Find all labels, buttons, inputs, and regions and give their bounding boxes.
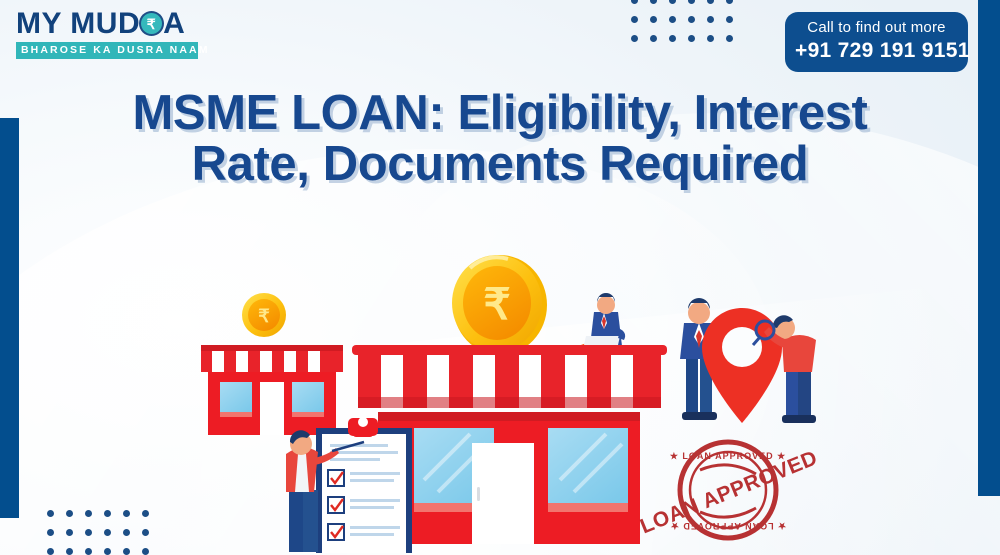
small-shop-awning: [201, 345, 343, 372]
small-shop-door: [260, 382, 284, 435]
clipboard-checklist: [316, 417, 412, 553]
main-shop-awning: [352, 345, 667, 408]
main-shop-door: [472, 443, 534, 544]
hero-illustration: ₹ ₹: [0, 0, 1000, 555]
main-shop-window-right: [548, 428, 628, 508]
svg-text:★ LOAN APPROVED ★: ★ LOAN APPROVED ★: [670, 451, 786, 461]
map-pin-group: [680, 298, 816, 423]
msme-loan-banner: MY MUD₹A BHAROSE KA DUSRA NAAM Call to f…: [0, 0, 1000, 555]
small-rupee-coin-icon: ₹: [242, 293, 286, 337]
svg-text:★ LOAN APPROVED ★: ★ LOAN APPROVED ★: [670, 521, 786, 531]
small-shop-window-right: [292, 382, 324, 414]
small-shop-window-left: [220, 382, 252, 414]
loan-approved-stamp: LOAN APPROVED ★ LOAN APPROVED ★ ★ LOAN A…: [635, 442, 821, 539]
big-rupee-coin-icon: ₹: [452, 255, 547, 355]
small-shop-illustration: ₹: [201, 293, 343, 435]
svg-text:₹: ₹: [483, 281, 510, 329]
svg-text:₹: ₹: [258, 306, 270, 326]
